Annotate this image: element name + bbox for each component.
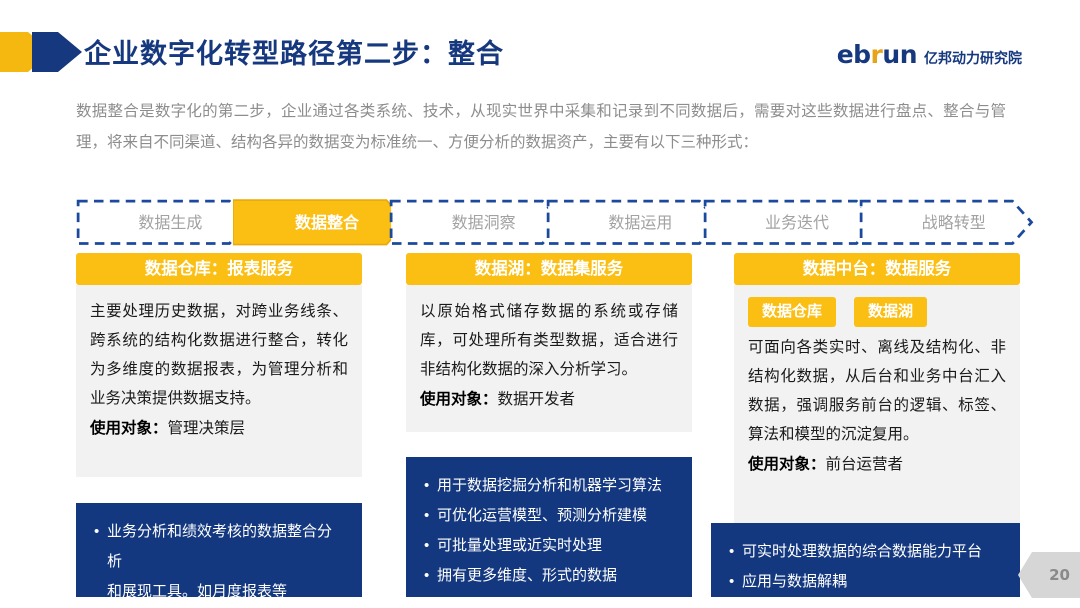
flow-step-6[interactable]: 战略转型 — [859, 199, 1034, 243]
bullets-data-warehouse: 业务分析和绩效考核的数据整合分析和展现工具。如月度报表等 非实时，业务预警预测方… — [76, 503, 362, 597]
panel-target-value: 管理决策层 — [168, 420, 246, 437]
panel-target: 使用对象：管理决策层 — [90, 414, 348, 443]
brand-logo: ebrun 亿邦动力研究院 — [837, 40, 1022, 69]
panel-description: 主要处理历史数据，对跨业务线条、跨系统的结构化数据进行整合，转化为多维度的数据报… — [90, 297, 348, 413]
bullet-text: 拥有更多维度、形式的数据 — [437, 567, 617, 584]
flow-step-label: 业务迭代 — [751, 209, 829, 233]
list-item: 可批量处理或近实时处理 — [424, 531, 676, 561]
bullet-text: 可优化运营模型、预测分析建模 — [437, 507, 647, 524]
panel-header: 数据湖：数据集服务 — [406, 253, 692, 285]
list-item: 可实时处理数据的综合数据能力平台 — [729, 537, 1004, 567]
panel-target-label: 使用对象： — [90, 420, 168, 437]
brand-wordmark: ebrun — [837, 40, 917, 69]
panel-target-value: 前台运营者 — [826, 456, 904, 473]
panel-target: 使用对象：前台运营者 — [748, 450, 1006, 479]
flow-step-3[interactable]: 数据洞察 — [389, 199, 564, 243]
panel-description: 以原始格式储存数据的系统或存储库，可处理所有类型数据，适合进行非结构化数据的深入… — [420, 297, 678, 384]
panel-header: 数据中台：数据服务 — [734, 253, 1020, 285]
list-item: 业务分析和绩效考核的数据整合分析和展现工具。如月度报表等 — [94, 517, 346, 607]
panel-target-label: 使用对象： — [420, 391, 498, 408]
panel-body: 主要处理历史数据，对跨业务线条、跨系统的结构化数据进行整合，转化为多维度的数据报… — [76, 285, 362, 477]
panel-header: 数据仓库：报表服务 — [76, 253, 362, 285]
bullet-text: 应用与数据解耦 — [742, 573, 847, 590]
flow-step-5[interactable]: 业务迭代 — [703, 199, 878, 243]
panel-data-warehouse: 数据仓库：报表服务 主要处理历史数据，对跨业务线条、跨系统的结构化数据进行整合，… — [76, 253, 362, 477]
bullet-text: 用于数据挖掘分析和机器学习算法 — [437, 477, 662, 494]
process-flow: 数据生成 数据整合 数据洞察 数据运用 业务迭代 — [76, 199, 1016, 243]
tag-data-warehouse[interactable]: 数据仓库 — [748, 297, 836, 327]
list-item: 用于数据挖掘分析和机器学习算法 — [424, 471, 676, 501]
brand-en-accent: r — [871, 40, 883, 69]
list-item: 拥有更多维度、形式的数据 — [424, 561, 676, 591]
intro-paragraph: 数据整合是数字化的第二步，企业通过各类系统、技术，从现实世界中采集和记录到不同数… — [76, 96, 1006, 158]
bullet-text: 可批量处理或近实时处理 — [437, 537, 602, 554]
brand-en-part2: un — [882, 40, 917, 69]
list-item: 可优化运营模型、预测分析建模 — [424, 501, 676, 531]
bullets-data-lake: 用于数据挖掘分析和机器学习算法 可优化运营模型、预测分析建模 可批量处理或近实时… — [406, 457, 692, 597]
list-item: 应用与数据解耦 — [729, 567, 1004, 597]
panel-description: 可面向各类实时、离线及结构化、非结构化数据，从后台和业务中台汇入数据，强调服务前… — [748, 333, 1006, 449]
panel-tags: 数据仓库 数据湖 — [748, 297, 1006, 327]
page-number: 20 — [1049, 566, 1070, 584]
tag-data-lake[interactable]: 数据湖 — [854, 297, 927, 327]
bullet-list: 可实时处理数据的综合数据能力平台 应用与数据解耦 — [729, 537, 1004, 597]
flow-step-1[interactable]: 数据生成 — [76, 199, 251, 243]
brand-en-part1: eb — [837, 40, 871, 69]
panel-body: 以原始格式储存数据的系统或存储库，可处理所有类型数据，适合进行非结构化数据的深入… — [406, 285, 692, 432]
panel-target-value: 数据开发者 — [498, 391, 576, 408]
panel-target-label: 使用对象： — [748, 456, 826, 473]
slide-canvas: 企业数字化转型路径第二步：整合 ebrun 亿邦动力研究院 数据整合是数字化的第… — [0, 0, 1080, 608]
flow-step-label: 数据运用 — [594, 209, 672, 233]
bullet-text: 可实时处理数据的综合数据能力平台 — [742, 543, 982, 560]
brand-chinese-name: 亿邦动力研究院 — [924, 48, 1022, 68]
bullet-list: 业务分析和绩效考核的数据整合分析和展现工具。如月度报表等 非实时，业务预警预测方… — [94, 517, 346, 608]
flow-step-label: 数据洞察 — [438, 209, 516, 233]
flow-step-2[interactable]: 数据整合 — [233, 199, 408, 243]
panel-body: 数据仓库 数据湖 可面向各类实时、离线及结构化、非结构化数据，从后台和业务中台汇… — [734, 285, 1020, 527]
flow-step-4[interactable]: 数据运用 — [546, 199, 721, 243]
page-title: 企业数字化转型路径第二步：整合 — [84, 32, 504, 71]
panel-target: 使用对象：数据开发者 — [420, 385, 678, 414]
flow-step-label: 数据整合 — [281, 209, 359, 233]
bullets-data-midplatform: 可实时处理数据的综合数据能力平台 应用与数据解耦 — [711, 523, 1020, 597]
panel-data-lake: 数据湖：数据集服务 以原始格式储存数据的系统或存储库，可处理所有类型数据，适合进… — [406, 253, 692, 432]
bullet-text: 业务分析和绩效考核的数据整合分析 — [107, 523, 332, 570]
panel-data-midplatform: 数据中台：数据服务 数据仓库 数据湖 可面向各类实时、离线及结构化、非结构化数据… — [734, 253, 1020, 527]
bullet-text-cont: 和展现工具。如月度报表等 — [107, 577, 346, 607]
flow-step-label: 战略转型 — [908, 209, 986, 233]
bullet-list: 用于数据挖掘分析和机器学习算法 可优化运营模型、预测分析建模 可批量处理或近实时… — [424, 471, 676, 591]
flow-step-label: 数据生成 — [124, 209, 202, 233]
